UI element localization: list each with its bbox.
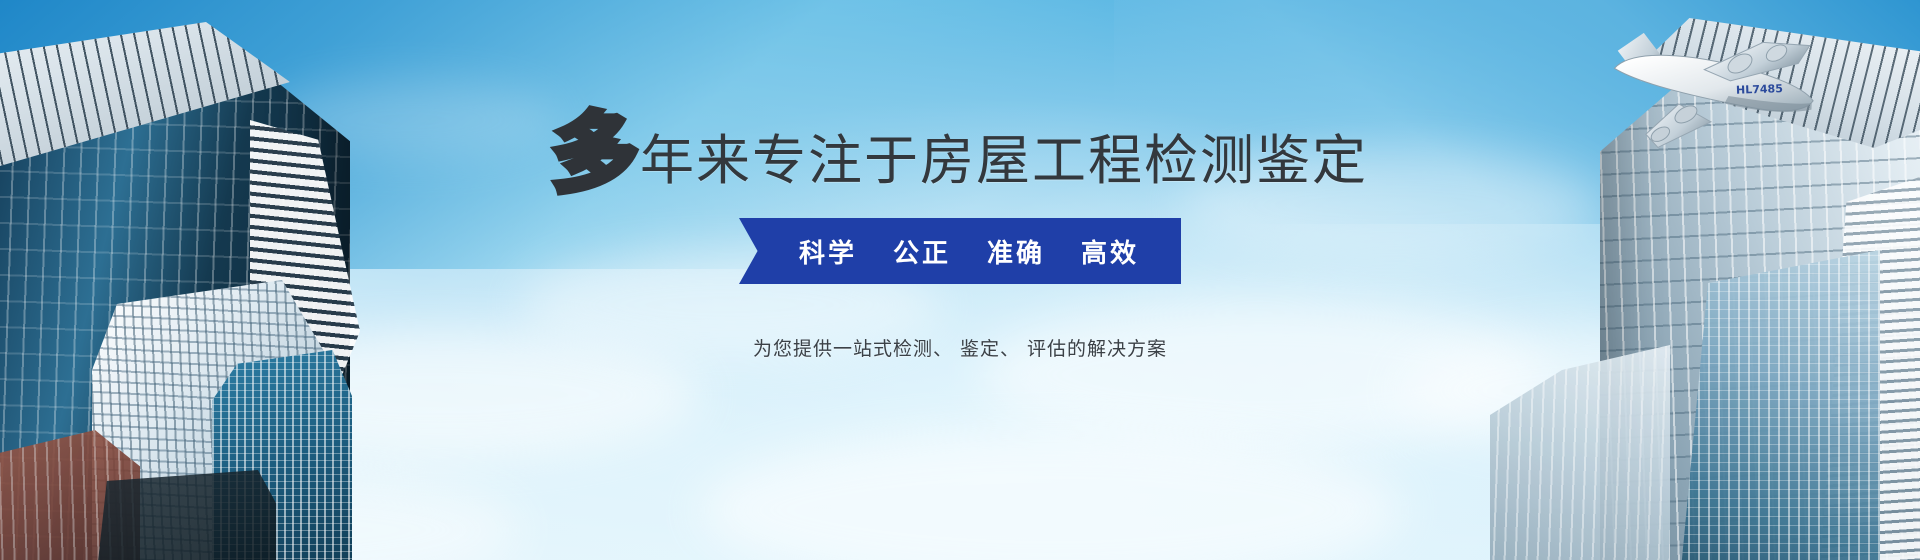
ribbon-item-2: 准确 [987,233,1045,270]
ribbon-item-1: 公正 [893,233,951,270]
hero-banner: HL7485 多 年来专注于房屋工程检测鉴定 科学 公正 准确 高效 为您提供一… [0,0,1920,560]
subtitle: 为您提供一站式检测、 鉴定、 评估的解决方案 [753,334,1167,361]
headline-rest: 年来专注于房屋工程检测鉴定 [640,134,1368,188]
headline-lead-char: 多 [552,118,638,192]
svg-text:HL7485: HL7485 [1736,82,1783,97]
low-dark-building [96,470,276,560]
slogan-ribbon: 科学 公正 准确 高效 [739,218,1181,284]
ribbon-items: 科学 公正 准确 高效 [739,218,1181,284]
skyscraper-far-tower-right [1490,330,1670,560]
headline: 多 年来专注于房屋工程检测鉴定 [552,108,1368,188]
ribbon-item-0: 科学 [799,233,857,270]
ribbon-item-3: 高效 [1081,233,1139,270]
skyscraper-glass-tower-right [1680,250,1880,560]
left-building-group [0,0,470,560]
